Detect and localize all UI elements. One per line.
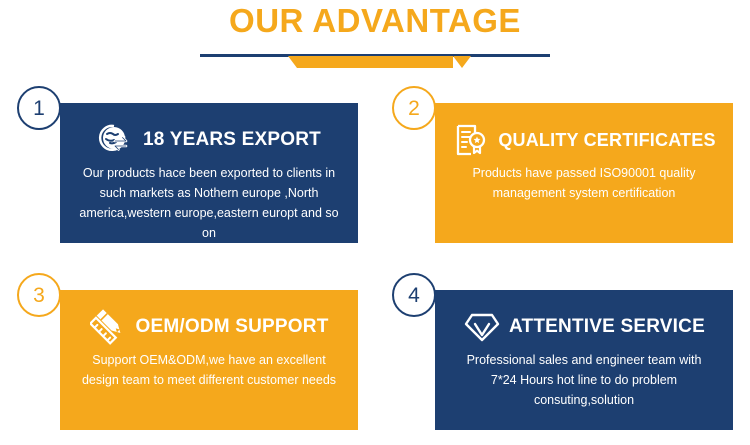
card-3-heading: OEM/ODM SUPPORT: [60, 306, 358, 348]
card-4-number-badge: 4: [392, 273, 436, 317]
card-2-title: QUALITY CERTIFICATES: [498, 130, 715, 151]
diamond-check-icon: [463, 308, 501, 346]
card-1-body: Our products hace been exported to clien…: [78, 163, 340, 243]
divider-tab-body: [297, 56, 453, 68]
card-3-title: OEM/ODM SUPPORT: [135, 316, 328, 338]
advantage-card-1[interactable]: 18 YEARS EXPORT Our products hace been e…: [60, 103, 358, 243]
divider-tab-right-bevel: [453, 56, 471, 68]
card-1-number-badge: 1: [17, 86, 61, 130]
card-1-heading: 18 YEARS EXPORT: [60, 119, 358, 161]
page-title: OUR ADVANTAGE: [0, 2, 750, 40]
divider-tab-left-bevel: [288, 56, 306, 68]
card-1-title: 18 YEARS EXPORT: [143, 129, 321, 151]
advantage-card-2[interactable]: QUALITY CERTIFICATES Products have passe…: [435, 103, 733, 243]
card-4-heading: ATTENTIVE SERVICE: [435, 306, 733, 348]
card-4-title: ATTENTIVE SERVICE: [509, 316, 705, 338]
card-2-body: Products have passed ISO90001 quality ma…: [453, 163, 715, 203]
title-divider: [200, 54, 550, 70]
card-3-number-badge: 3: [17, 273, 61, 317]
certificate-award-icon: [452, 121, 490, 159]
pencil-ruler-icon: [89, 308, 127, 346]
card-2-number-badge: 2: [392, 86, 436, 130]
advantage-card-4[interactable]: ATTENTIVE SERVICE Professional sales and…: [435, 290, 733, 430]
card-4-body: Professional sales and engineer team wit…: [453, 350, 715, 410]
advantage-card-3[interactable]: OEM/ODM SUPPORT Support OEM&ODM,we have …: [60, 290, 358, 430]
header: OUR ADVANTAGE: [0, 0, 750, 72]
card-2-heading: QUALITY CERTIFICATES: [435, 119, 733, 161]
advantage-cards: 18 YEARS EXPORT Our products hace been e…: [0, 72, 750, 445]
globe-exchange-icon: [97, 121, 135, 159]
card-3-body: Support OEM&ODM,we have an excellent des…: [78, 350, 340, 390]
